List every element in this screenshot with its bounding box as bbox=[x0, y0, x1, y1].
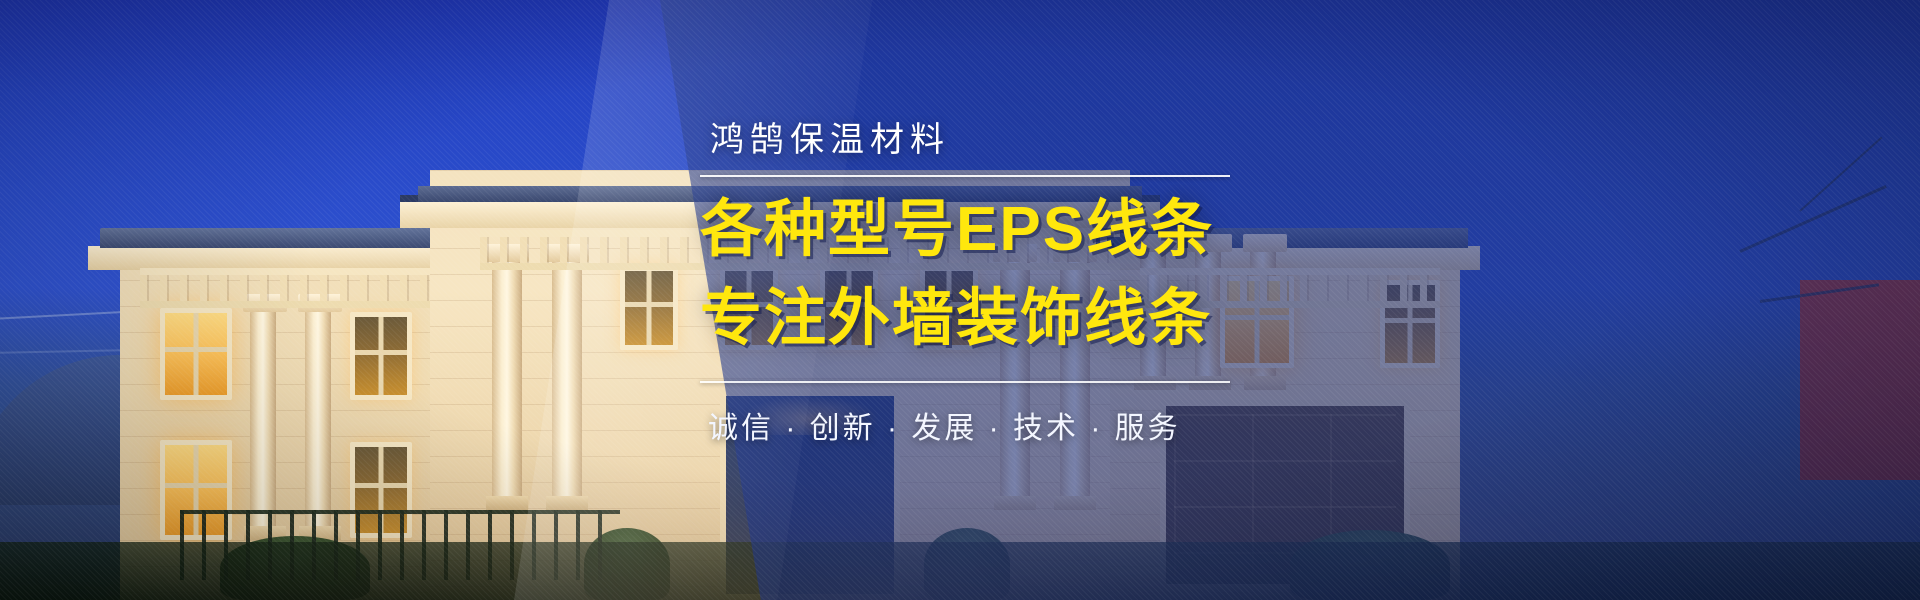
banner-text-block: 鸿鹄保温材料 各种型号EPS线条 专注外墙装饰线条 诚信 · 创新 · 发展 ·… bbox=[700, 120, 1320, 447]
facade-column bbox=[492, 260, 522, 510]
window bbox=[350, 312, 412, 400]
facade-column bbox=[250, 310, 276, 540]
headline-line-2: 专注外墙装饰线条 bbox=[700, 282, 1320, 355]
window-lit bbox=[160, 308, 232, 400]
tagline: 诚信 · 创新 · 发展 · 技术 · 服务 bbox=[700, 403, 1320, 447]
divider-bottom bbox=[700, 381, 1230, 383]
villa-left-cornice bbox=[88, 246, 468, 270]
balcony-balustrade bbox=[140, 268, 430, 308]
divider-top bbox=[700, 175, 1230, 177]
brand-name: 鸿鹄保温材料 bbox=[700, 120, 1320, 161]
headline-line-1: 各种型号EPS线条 bbox=[700, 193, 1320, 266]
villa-left-roof-cap bbox=[100, 228, 458, 248]
hero-banner: 鸿鹄保温材料 各种型号EPS线条 专注外墙装饰线条 诚信 · 创新 · 发展 ·… bbox=[0, 0, 1920, 600]
facade-column bbox=[305, 310, 331, 540]
